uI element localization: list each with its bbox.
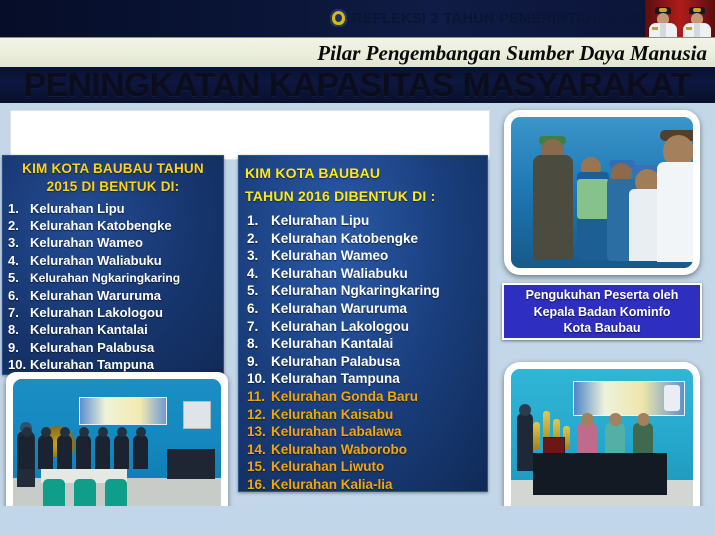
slide-root: REFLEKSI 2 TAHUN PEMERINTAHAN TAMPIL MES… [0,0,715,536]
list-item: 9.Kelurahan Palabusa [3,339,223,356]
list-item: 11.Kelurahan Gonda Baru [239,388,487,406]
list-item: 3.Kelurahan Wameo [3,234,223,251]
panel-kim-2016-list: 1.Kelurahan Lipu 2.Kelurahan Katobengke … [239,212,487,494]
main-title-band: PENINGKATAN KAPASITAS MASYARAKAT [0,67,715,103]
page-title: PENINGKATAN KAPASITAS MASYARAKAT [0,66,715,103]
caption-line-2: Kepala Badan Kominfo [504,304,700,321]
list-item: 7.Kelurahan Lakologou [239,318,487,336]
city-seal-icon [330,9,347,27]
list-item: 10.Kelurahan Tampuna [3,356,223,373]
panel-kim-2015-list: 1.Kelurahan Lipu 2.Kelurahan Katobengke … [3,200,223,373]
list-item: 8.Kelurahan Kantalai [239,335,487,353]
panel-kim-2016-heading-line2: TAHUN 2016 DIBENTUK DI : [239,184,487,210]
bottom-bar [0,506,715,536]
photo-panel-narasumber-image [511,369,693,515]
photo-pertemuan-kim-image [13,379,221,517]
caption-line-1: Pengukuhan Peserta oleh [504,287,700,304]
photo-pengukuhan-peserta [504,110,700,275]
list-item: 7.Kelurahan Lakologou [3,304,223,321]
panel-kim-2016: KIM KOTA BAUBAU TAHUN 2016 DIBENTUK DI :… [238,155,488,492]
list-item: 4.Kelurahan Waliabuku [239,265,487,283]
list-item: 9.Kelurahan Palabusa [239,353,487,371]
list-item: 1.Kelurahan Lipu [239,212,487,230]
header-band: REFLEKSI 2 TAHUN PEMERINTAHAN TAMPIL MES… [0,0,715,37]
header-title: REFLEKSI 2 TAHUN PEMERINTAHAN TAMPIL MES… [352,8,640,30]
list-item: 15.Kelurahan Liwuto [239,458,487,476]
list-item: 4.Kelurahan Waliabuku [3,252,223,269]
panel-kim-2015-heading-line2: 2015 DI BENTUK DI: [3,179,223,197]
panel-kim-2016-heading-line1: KIM KOTA BAUBAU [239,156,487,184]
caption-pengukuhan: Pengukuhan Peserta oleh Kepala Badan Kom… [502,283,702,340]
list-item: 6.Kelurahan Waruruma [3,287,223,304]
photo-panel-narasumber [504,362,700,522]
list-item: 5.Kelurahan Ngkaringkaring [239,282,487,300]
subtitle-text: Pilar Pengembangan Sumber Daya Manusia [317,40,707,67]
panel-kim-2015: KIM KOTA BAUBAU TAHUN 2015 DI BENTUK DI:… [2,155,224,375]
list-item: 14.Kelurahan Waborobo [239,441,487,459]
panel-kim-2015-heading-line1: KIM KOTA BAUBAU TAHUN [3,156,223,179]
list-item: 10.Kelurahan Tampuna [239,370,487,388]
list-item: 6.Kelurahan Waruruma [239,300,487,318]
list-item: 3.Kelurahan Wameo [239,247,487,265]
photo-pertemuan-kim [6,372,228,524]
list-item: 2.Kelurahan Katobengke [3,217,223,234]
list-item: 2.Kelurahan Katobengke [239,230,487,248]
photo-pengukuhan-peserta-image [511,117,693,268]
caption-line-3: Kota Baubau [504,320,700,337]
list-item: 8.Kelurahan Kantalai [3,321,223,338]
empty-white-box [10,110,490,160]
list-item: 12.Kelurahan Kaisabu [239,406,487,424]
subtitle-banner: Pilar Pengembangan Sumber Daya Manusia [0,37,715,69]
list-item: 1.Kelurahan Lipu [3,200,223,217]
list-item: 16.Kelurahan Kalia-lia [239,476,487,494]
list-item: 13.Kelurahan Labalawa [239,423,487,441]
list-item: 5.Kelurahan Ngkaringkaring [3,269,223,287]
